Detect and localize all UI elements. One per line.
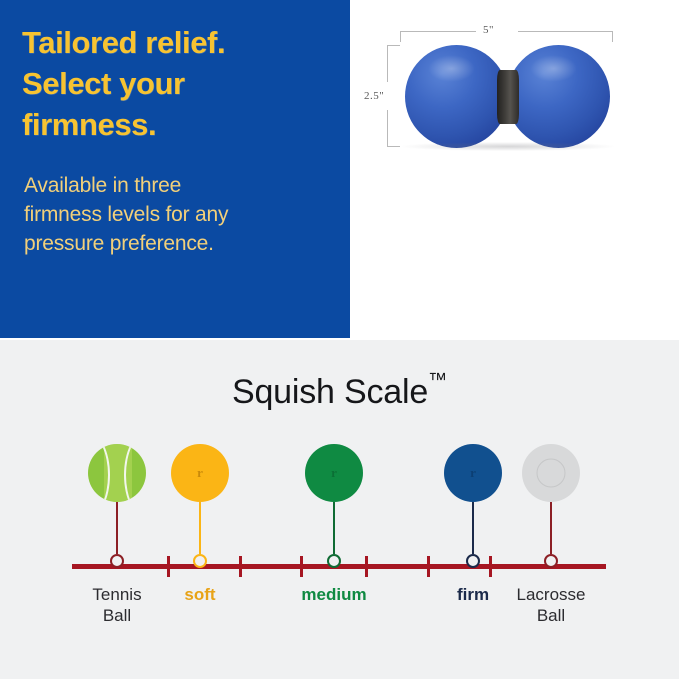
squish-scale-title: Squish Scale™	[0, 370, 679, 412]
soft-ball-icon: r	[171, 444, 229, 502]
sphere-highlight-left	[428, 55, 475, 82]
scale-tick	[489, 556, 492, 577]
promo-panel: Tailored relief. Select your firmness. A…	[0, 0, 350, 338]
scale-stem-soft	[199, 502, 201, 554]
width-bracket-left-line	[400, 31, 476, 32]
scale-stem-tennis	[116, 502, 118, 554]
massage-ball-sphere-right	[507, 45, 610, 148]
headline-line-3: firmness.	[22, 104, 326, 145]
scale-node-tennis[interactable]	[110, 554, 124, 568]
trademark-icon: ™	[428, 370, 447, 391]
scale-node-lacrosse[interactable]	[544, 554, 558, 568]
scale-stem-medium	[333, 502, 335, 554]
scale-label-lacrosse: Lacrosse Ball	[491, 584, 611, 627]
top-section: Tailored relief. Select your firmness. A…	[0, 0, 679, 340]
scale-label-soft: soft	[140, 584, 260, 605]
scale-node-medium[interactable]	[327, 554, 341, 568]
subtext-line-3: pressure preference.	[24, 230, 326, 259]
height-bracket-top-tick	[387, 45, 400, 46]
headline-line-2: Select your	[22, 63, 326, 104]
brand-r-icon: r	[470, 465, 476, 481]
peanut-massage-ball-image	[405, 45, 610, 148]
subtext-line-2: firmness levels for any	[24, 201, 326, 230]
scale-item-soft[interactable]: r soft	[140, 444, 260, 502]
medium-ball-icon: r	[305, 444, 363, 502]
scale-item-medium[interactable]: r medium	[274, 444, 394, 502]
scale-tick	[300, 556, 303, 577]
product-stage: 5" 2.5"	[350, 0, 679, 338]
width-bracket-right-tick	[612, 31, 613, 42]
subtext-line-1: Available in three	[24, 172, 326, 201]
width-dimension-label: 5"	[483, 24, 494, 36]
massage-ball-connector-band	[497, 70, 519, 124]
height-bracket-bottom-tick	[387, 146, 400, 147]
scale-label-medium: medium	[274, 584, 394, 605]
headline-line-1: Tailored relief.	[22, 22, 326, 63]
scale-tick	[427, 556, 430, 577]
sphere-highlight-right	[530, 55, 577, 82]
scale-tick	[365, 556, 368, 577]
lacrosse-ball-icon	[522, 444, 580, 502]
squish-scale-title-text: Squish Scale	[232, 373, 428, 411]
scale-stem-firm	[472, 502, 474, 554]
height-dimension-label: 2.5"	[364, 90, 384, 102]
width-bracket-left-tick	[400, 31, 401, 42]
scale-tick	[167, 556, 170, 577]
width-bracket-right-line	[518, 31, 612, 32]
product-drop-shadow	[402, 142, 614, 151]
height-bracket-lower-line	[387, 110, 388, 147]
brand-r-icon: r	[197, 465, 203, 481]
scale-tick	[239, 556, 242, 577]
brand-r-icon: r	[331, 465, 337, 481]
promo-subtext: Available in three firmness levels for a…	[24, 172, 326, 259]
firmness-scale-graphic: Tennis Ball r soft r medium r	[0, 444, 679, 644]
scale-node-firm[interactable]	[466, 554, 480, 568]
massage-ball-sphere-left	[405, 45, 508, 148]
tennis-ball-icon	[88, 444, 146, 502]
tennis-ball-seam-left	[88, 444, 110, 502]
scale-stem-lacrosse	[550, 502, 552, 554]
height-bracket-upper-line	[387, 45, 388, 82]
squish-scale-section: Squish Scale™ Tennis Ball r s	[0, 340, 679, 679]
lacrosse-ball-ring	[537, 459, 566, 488]
product-image-panel: 5" 2.5"	[350, 0, 679, 338]
scale-node-soft[interactable]	[193, 554, 207, 568]
scale-item-lacrosse[interactable]: Lacrosse Ball	[491, 444, 611, 502]
page-title: Tailored relief. Select your firmness.	[22, 22, 326, 146]
